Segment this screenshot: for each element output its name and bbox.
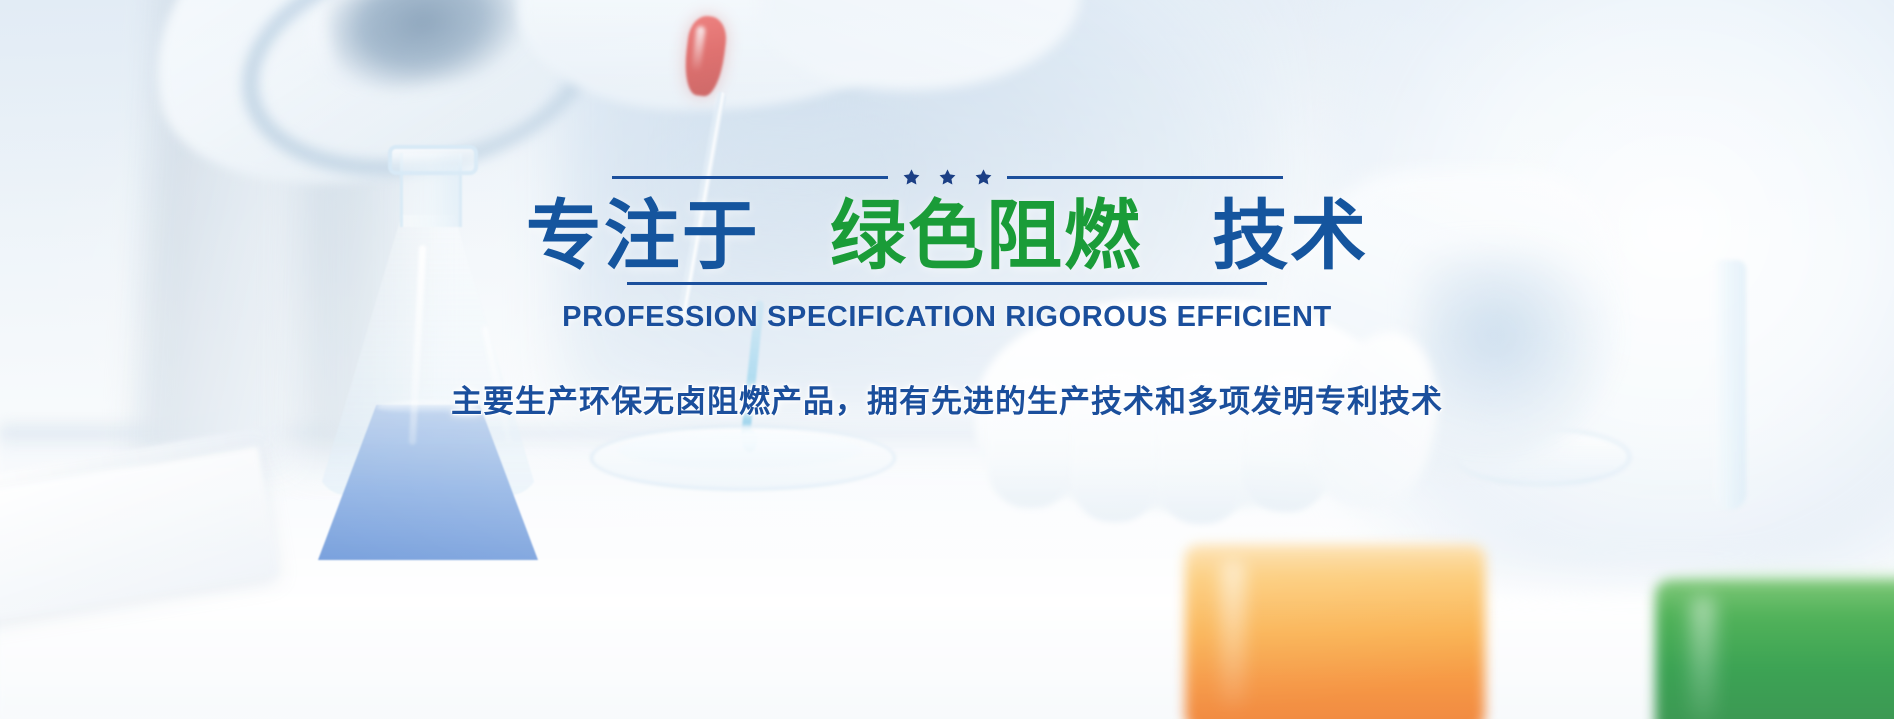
subtitle-english: PROFESSION SPECIFICATION RIGOROUS EFFICI… [562,301,1332,334]
headline-part-3: 技术 [1212,194,1368,279]
hero-banner: 专注于 绿色阻燃 技术 PROFESSION SPECIFICATION RIG… [0,0,1894,719]
description-chinese: 主要生产环保无卤阻燃产品，拥有先进的生产技术和多项发明专利技术 [451,376,1443,421]
star-icon [974,168,993,187]
star-icon [938,168,957,187]
star-group [902,168,993,187]
star-icon [902,168,921,187]
banner-copy: 专注于 绿色阻燃 技术 PROFESSION SPECIFICATION RIG… [0,168,1894,452]
headline-part-2: 绿色阻燃 [830,194,1142,279]
decorative-divider [612,168,1283,187]
headline-part-1: 专注于 [526,194,760,279]
divider-rule-left [612,176,888,179]
green-beaker-highlight [1690,596,1716,719]
divider-rule-right [1007,176,1283,179]
orange-beaker-highlight [1220,560,1246,710]
page-title: 专注于 绿色阻燃 技术 [526,197,1369,276]
subtitle-rule [627,282,1267,285]
